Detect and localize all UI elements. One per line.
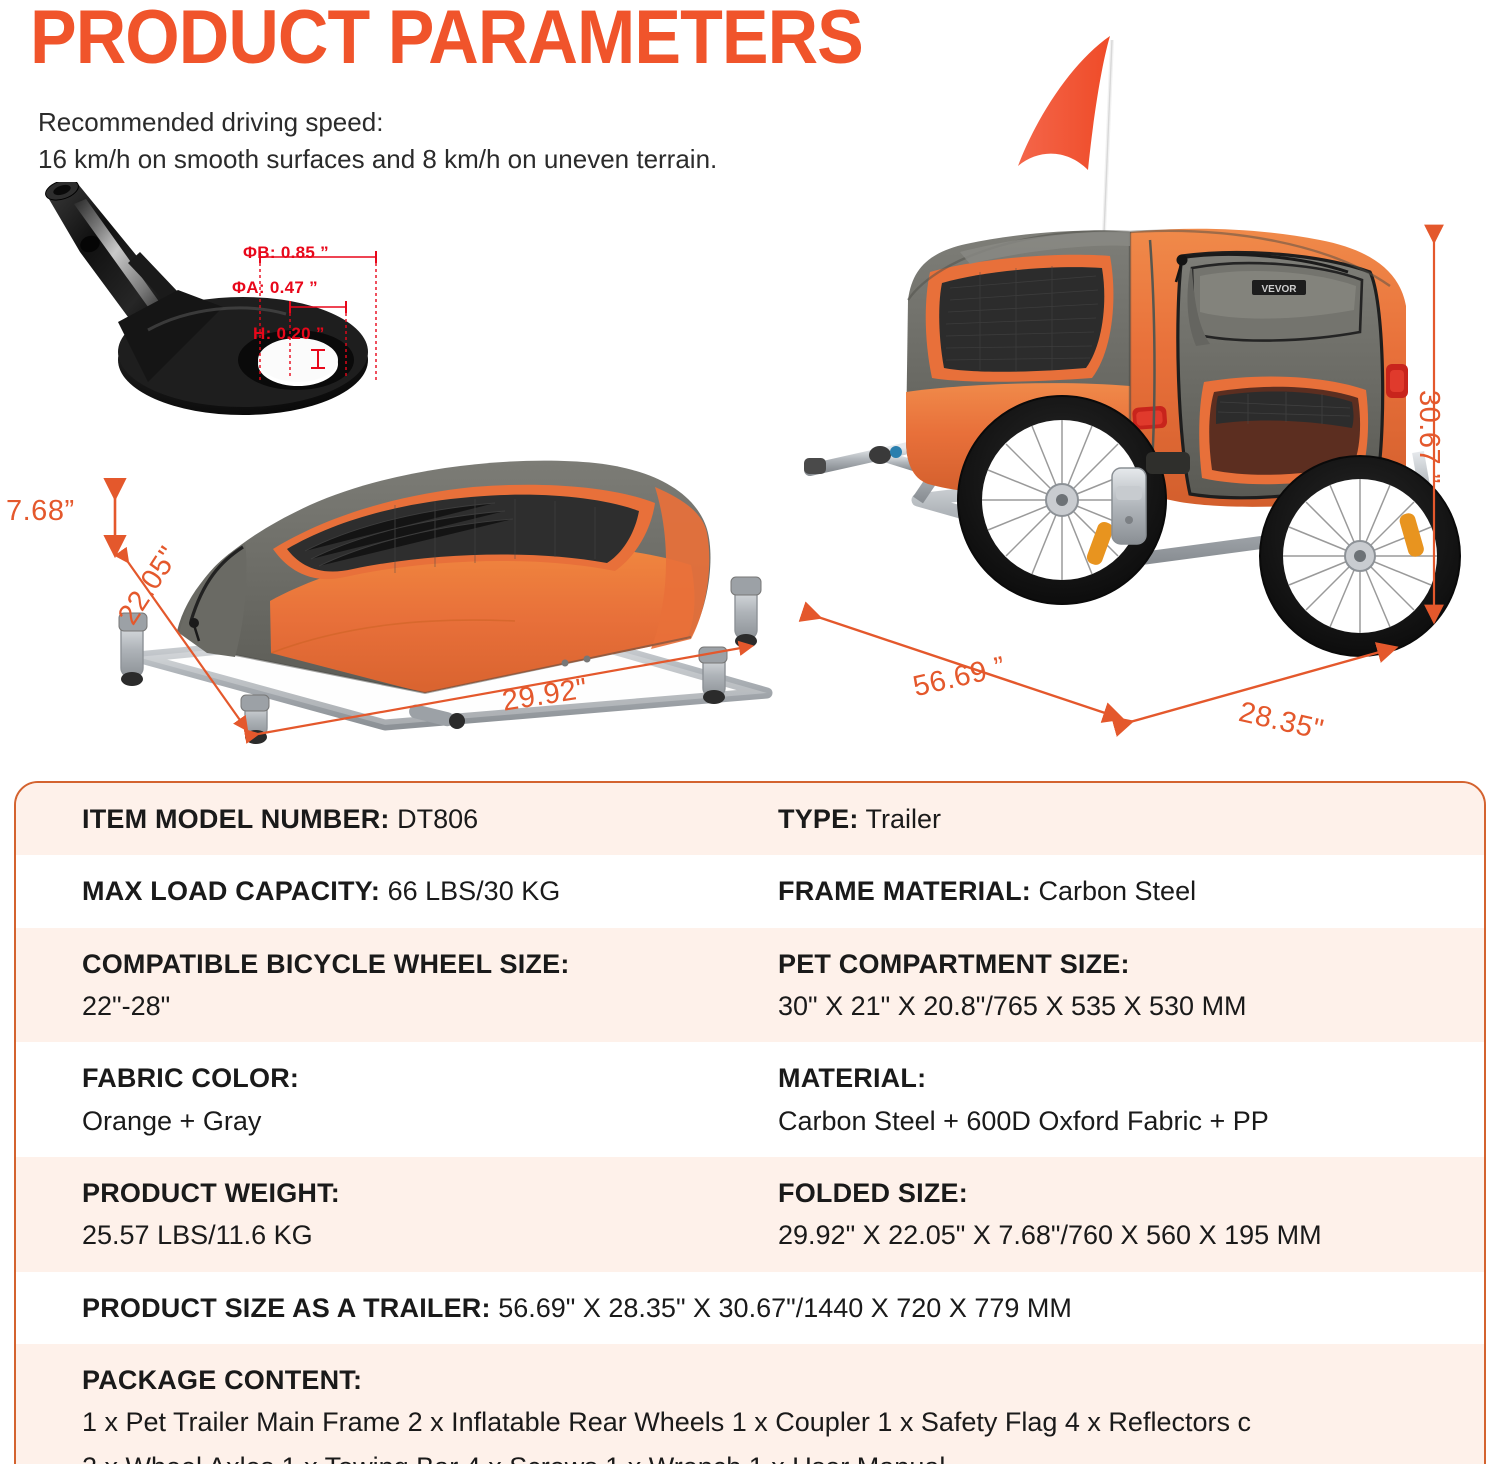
spec-cell: TYPE: Trailer bbox=[750, 783, 1484, 855]
folded-trailer-image bbox=[95, 425, 795, 745]
product-parameters-page: PRODUCT PARAMETERS Recommended driving s… bbox=[0, 0, 1500, 1464]
spec-label: PRODUCT WEIGHT: bbox=[82, 1174, 750, 1212]
spec-label: FOLDED SIZE: bbox=[778, 1174, 1484, 1212]
spec-label: PACKAGE CONTENT: bbox=[82, 1361, 1484, 1399]
spec-value: 29.92" X 22.05" X 7.68"/760 X 560 X 195 … bbox=[778, 1216, 1484, 1254]
recommended-speed-note: Recommended driving speed: 16 km/h on sm… bbox=[38, 104, 717, 178]
table-row: MAX LOAD CAPACITY: 66 LBS/30 KGFRAME MAT… bbox=[16, 855, 1484, 927]
spec-value: 66 LBS/30 KG bbox=[388, 876, 561, 906]
spec-label: FABRIC COLOR: bbox=[82, 1059, 750, 1097]
coupler-dim-b-label: ΦB: 0.85 ” bbox=[243, 243, 329, 263]
spec-cell: PRODUCT WEIGHT:25.57 LBS/11.6 KG bbox=[16, 1157, 750, 1272]
spec-cell: ITEM MODEL NUMBER: DT806 bbox=[16, 783, 750, 855]
spec-cell: FOLDED SIZE:29.92" X 22.05" X 7.68"/760 … bbox=[750, 1157, 1484, 1272]
page-title: PRODUCT PARAMETERS bbox=[30, 0, 863, 80]
spec-value: Orange + Gray bbox=[82, 1102, 750, 1140]
spec-label: FRAME MATERIAL: bbox=[778, 876, 1031, 906]
spec-label: ITEM MODEL NUMBER: bbox=[82, 804, 390, 834]
spec-cell: PET COMPARTMENT SIZE:30" X 21" X 20.8"/7… bbox=[750, 928, 1484, 1043]
spec-label: PRODUCT SIZE AS A TRAILER: bbox=[82, 1293, 491, 1323]
spec-cell: FABRIC COLOR:Orange + Gray bbox=[16, 1042, 750, 1157]
spec-label: MAX LOAD CAPACITY: bbox=[82, 876, 380, 906]
trailer-height-label: 30.67 ” bbox=[1412, 390, 1445, 484]
speed-note-line1: Recommended driving speed: bbox=[38, 107, 383, 137]
coupler-dimension-lines bbox=[28, 182, 418, 432]
table-row: PRODUCT WEIGHT:25.57 LBS/11.6 KGFOLDED S… bbox=[16, 1157, 1484, 1272]
spec-cell: FRAME MATERIAL: Carbon Steel bbox=[750, 855, 1484, 927]
spec-cell: COMPATIBLE BICYCLE WHEEL SIZE:22"-28" bbox=[16, 928, 750, 1043]
spec-value: 22"-28" bbox=[82, 987, 750, 1025]
spec-cell: PRODUCT SIZE AS A TRAILER: 56.69" X 28.3… bbox=[16, 1272, 1484, 1344]
spec-cell: PACKAGE CONTENT:1 x Pet Trailer Main Fra… bbox=[16, 1344, 1484, 1464]
spec-value: Carbon Steel bbox=[1038, 876, 1196, 906]
spec-value: 25.57 LBS/11.6 KG bbox=[82, 1216, 750, 1254]
spec-label: PET COMPARTMENT SIZE: bbox=[778, 945, 1484, 983]
assembled-trailer-illustration: VEVOR bbox=[800, 0, 1500, 760]
table-row: FABRIC COLOR:Orange + GrayMATERIAL:Carbo… bbox=[16, 1042, 1484, 1157]
table-row: PACKAGE CONTENT:1 x Pet Trailer Main Fra… bbox=[16, 1344, 1484, 1464]
spec-label: COMPATIBLE BICYCLE WHEEL SIZE: bbox=[82, 945, 750, 983]
svg-text:VEVOR: VEVOR bbox=[1261, 284, 1297, 295]
specifications-table: ITEM MODEL NUMBER: DT806TYPE: TrailerMAX… bbox=[14, 781, 1486, 1464]
assembled-trailer-image: VEVOR bbox=[800, 0, 1500, 760]
spec-value: 2 x Wheel Axles 1 x Towing Bar 4 x Screw… bbox=[82, 1448, 1484, 1464]
spec-value: Trailer bbox=[866, 804, 942, 834]
spec-cell: MAX LOAD CAPACITY: 66 LBS/30 KG bbox=[16, 855, 750, 927]
spec-value: 30" X 21" X 20.8"/765 X 535 X 530 MM bbox=[778, 987, 1484, 1025]
coupler-illustration bbox=[28, 182, 418, 432]
table-row: COMPATIBLE BICYCLE WHEEL SIZE:22"-28"PET… bbox=[16, 928, 1484, 1043]
spec-value: DT806 bbox=[397, 804, 478, 834]
spec-value: 1 x Pet Trailer Main Frame 2 x Inflatabl… bbox=[82, 1403, 1484, 1441]
folded-height-label: 7.68” bbox=[6, 495, 75, 528]
speed-note-line2: 16 km/h on smooth surfaces and 8 km/h on… bbox=[38, 144, 717, 174]
spec-value: Carbon Steel + 600D Oxford Fabric + PP bbox=[778, 1102, 1484, 1140]
spec-label: TYPE: bbox=[778, 804, 859, 834]
table-row: PRODUCT SIZE AS A TRAILER: 56.69" X 28.3… bbox=[16, 1272, 1484, 1344]
coupler-dim-h-label: H: 0.20 ” bbox=[253, 324, 325, 344]
table-row: ITEM MODEL NUMBER: DT806TYPE: Trailer bbox=[16, 783, 1484, 855]
spec-cell: MATERIAL:Carbon Steel + 600D Oxford Fabr… bbox=[750, 1042, 1484, 1157]
folded-trailer-illustration bbox=[95, 425, 795, 745]
spec-value: 56.69" X 28.35" X 30.67"/1440 X 720 X 77… bbox=[498, 1293, 1072, 1323]
spec-label: MATERIAL: bbox=[778, 1059, 1484, 1097]
coupler-dim-a-label: ΦA: 0.47 ” bbox=[232, 278, 318, 298]
